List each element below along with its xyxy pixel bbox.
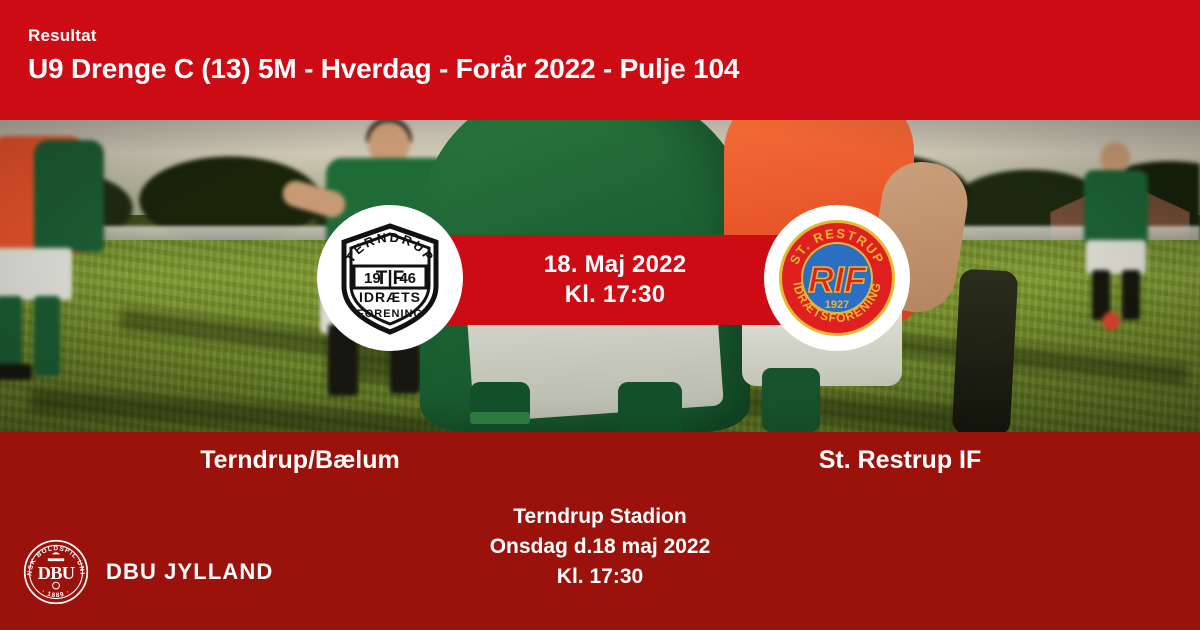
match-time: Kl. 17:30 (565, 280, 666, 310)
svg-text:· 1889 ·: · 1889 · (40, 588, 71, 599)
dbu-crest-icon: DANSK BOLDSPIL UNION DBU · 1889 · (22, 538, 90, 606)
header-bar: Resultat U9 Drenge C (13) 5M - Hverdag -… (0, 0, 1200, 120)
home-team-name: Terndrup/Bælum (0, 446, 600, 475)
photo-sock (762, 368, 820, 432)
match-date: 18. Maj 2022 (544, 250, 687, 280)
header-kicker: Resultat (28, 26, 97, 46)
away-team-crest: ST. RESTRUP IDRÆTSFORENING RIF 1927 (764, 205, 910, 351)
svg-text:RIF: RIF (808, 259, 867, 300)
match-result-poster: Resultat U9 Drenge C (13) 5M - Hverdag -… (0, 0, 1200, 630)
page-title: U9 Drenge C (13) 5M - Hverdag - Forår 20… (28, 53, 739, 85)
photo-sock (470, 382, 530, 432)
photo-player-background (0, 136, 122, 366)
home-team-crest: TERNDRUP 19 T|F 46 IDRÆTS FORENING (317, 205, 463, 351)
terndrup-if-crest-icon: TERNDRUP 19 T|F 46 IDRÆTS FORENING (328, 216, 452, 340)
svg-text:DBU: DBU (38, 563, 75, 583)
svg-text:FORENING: FORENING (357, 308, 423, 320)
photo-leg (952, 269, 1019, 432)
away-team-name: St. Restrup IF (600, 446, 1200, 475)
svg-text:1927: 1927 (825, 299, 849, 311)
st-restrup-if-crest-icon: ST. RESTRUP IDRÆTSFORENING RIF 1927 (775, 216, 899, 340)
svg-text:IDRÆTS: IDRÆTS (359, 289, 421, 305)
svg-text:46: 46 (399, 270, 416, 287)
dbu-org-name: DBU JYLLAND (106, 559, 273, 585)
photo-sock-stripe (470, 412, 530, 424)
dbu-footer-logo: DANSK BOLDSPIL UNION DBU · 1889 · DBU JY… (22, 538, 273, 606)
photo-player-background (1064, 142, 1174, 322)
venue-stadium: Terndrup Stadion (0, 502, 1200, 532)
photo-sock (618, 382, 682, 432)
